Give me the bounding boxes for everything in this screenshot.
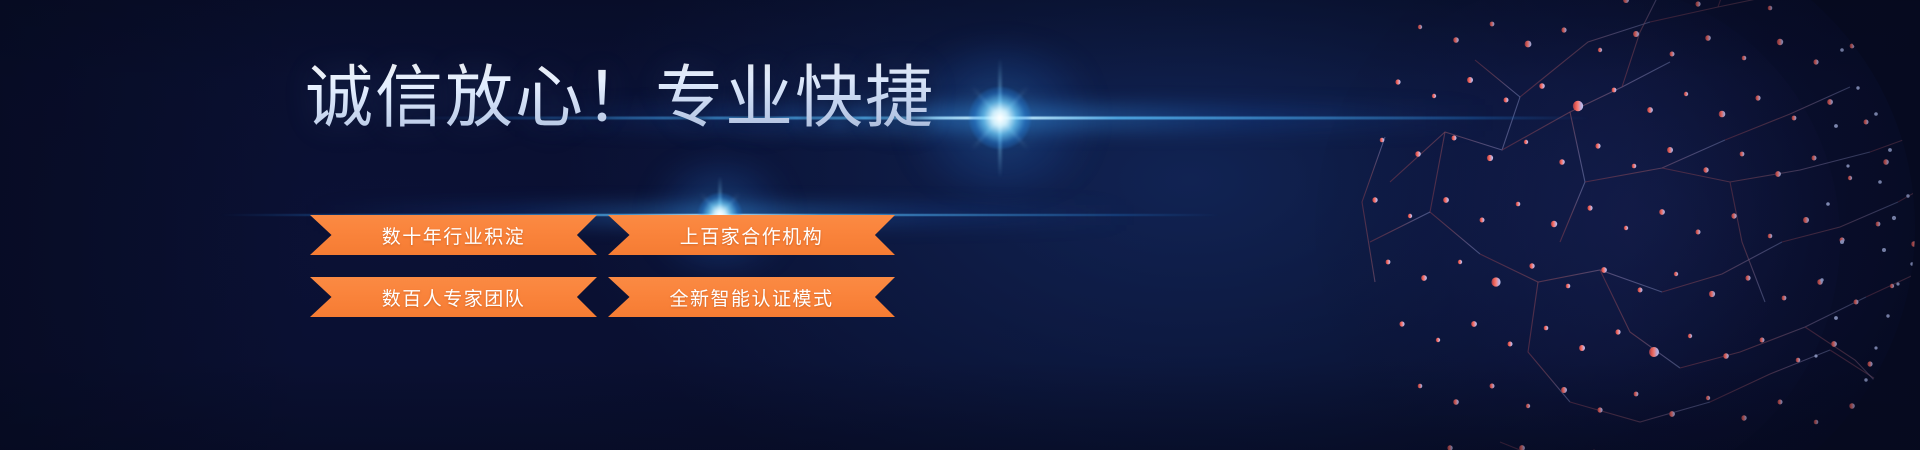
globe-glow (1320, 0, 1840, 450)
promo-banner: 诚信放心！专业快捷 数十年行业积淀 上百家合作机构 数百人专家团队 全新智能认证… (0, 0, 1920, 450)
banner-headline: 诚信放心！专业快捷 (305, 62, 935, 135)
flare-core (969, 87, 1031, 149)
feature-badge-label: 数十年行业积淀 (382, 222, 526, 249)
feature-badge[interactable]: 上百家合作机构 (608, 215, 895, 255)
flare-spike-vertical (999, 58, 1002, 178)
feature-badge[interactable]: 数十年行业积淀 (310, 215, 597, 255)
feature-badge[interactable]: 全新智能认证模式 (608, 277, 895, 317)
globe-svg (1270, 0, 1920, 450)
flare-spike-diagonal-b (970, 85, 1029, 150)
globe-rim-dots (1814, 0, 1920, 450)
feature-badge-label: 上百家合作机构 (680, 222, 824, 249)
feature-badge-list: 数十年行业积淀 上百家合作机构 数百人专家团队 全新智能认证模式 (310, 215, 895, 317)
flare-spike-diagonal-a (970, 85, 1029, 150)
globe-network (1362, 0, 1920, 450)
globe-connection-lines (1362, 0, 1920, 450)
globe-dots (1372, 0, 1920, 450)
feature-badge-label: 全新智能认证模式 (669, 284, 833, 311)
edge-vignette (0, 0, 1920, 450)
network-globe-graphic (1270, 0, 1920, 450)
feature-badge-label: 数百人专家团队 (382, 284, 526, 311)
feature-badge[interactable]: 数百人专家团队 (310, 277, 597, 317)
